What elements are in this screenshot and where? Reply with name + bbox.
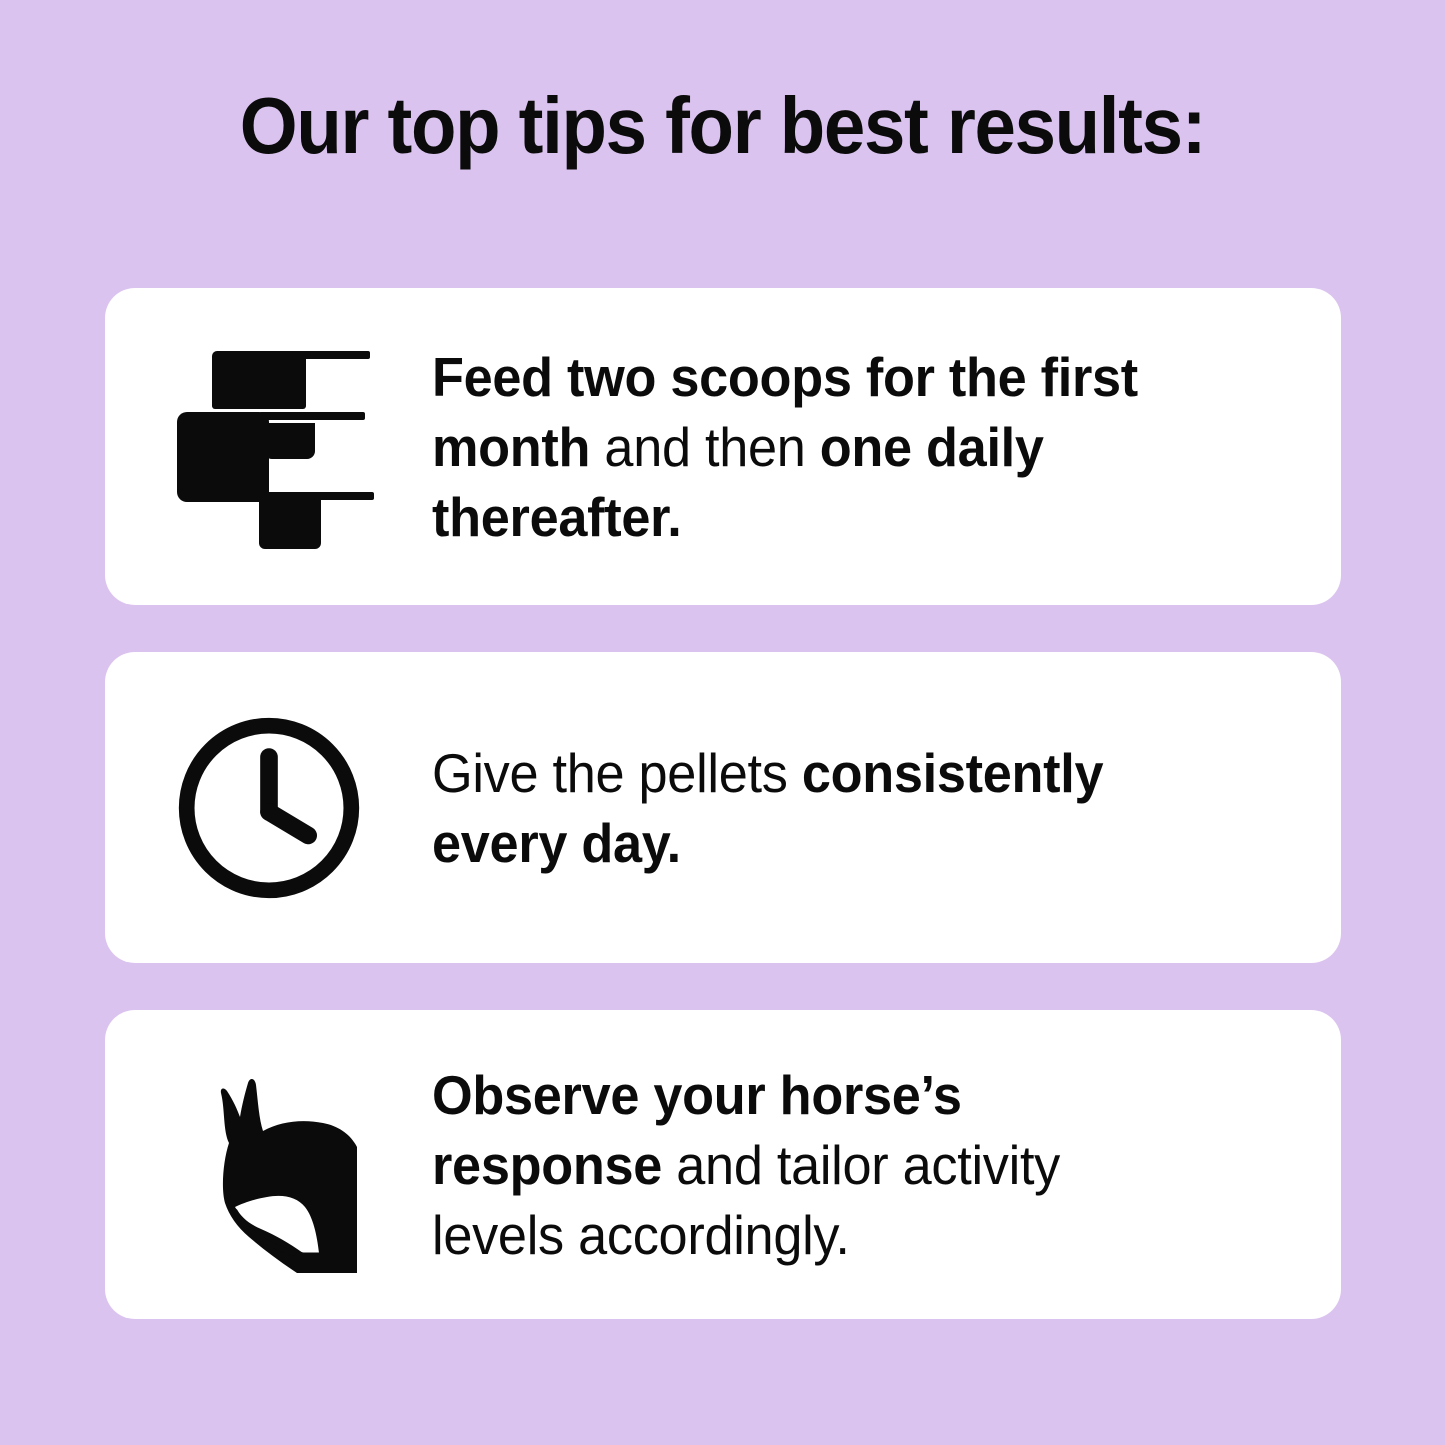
- tip-text-regular: Give the pellets: [432, 742, 802, 804]
- page-title: Our top tips for best results:: [51, 78, 1395, 174]
- scoop-bottom-body: [259, 492, 321, 549]
- tip-icon-container: [105, 1010, 432, 1319]
- scoop-top-body: [212, 351, 306, 409]
- tip-text-regular: and then: [604, 416, 819, 478]
- horse-head-icon: [171, 1057, 367, 1273]
- scoop-middle-small-body: [264, 423, 315, 459]
- tip-card-observation: Observe your horse’s response and tailor…: [105, 1010, 1341, 1319]
- measuring-scoops-icon: [164, 344, 374, 549]
- tip-text-consistency: Give the pellets consistently every day.: [432, 738, 1183, 878]
- tip-icon-container: [105, 288, 432, 605]
- tip-card-feeding: Feed two scoops for the first month and …: [105, 288, 1341, 605]
- scoop-top-handle: [292, 351, 370, 359]
- tip-icon-container: [105, 652, 432, 963]
- tip-card-consistency: Give the pellets consistently every day.: [105, 652, 1341, 963]
- tip-text-feeding: Feed two scoops for the first month and …: [432, 342, 1183, 552]
- scoop-middle-body: [177, 412, 269, 502]
- scoop-bottom-handle: [314, 492, 374, 500]
- tips-infographic: Our top tips for best results: Feed two …: [0, 0, 1445, 1445]
- clock-icon: [171, 710, 367, 906]
- scoop-middle-handle: [259, 412, 365, 420]
- tip-text-observation: Observe your horse’s response and tailor…: [432, 1060, 1183, 1270]
- tips-card-list: Feed two scoops for the first month and …: [105, 288, 1341, 1319]
